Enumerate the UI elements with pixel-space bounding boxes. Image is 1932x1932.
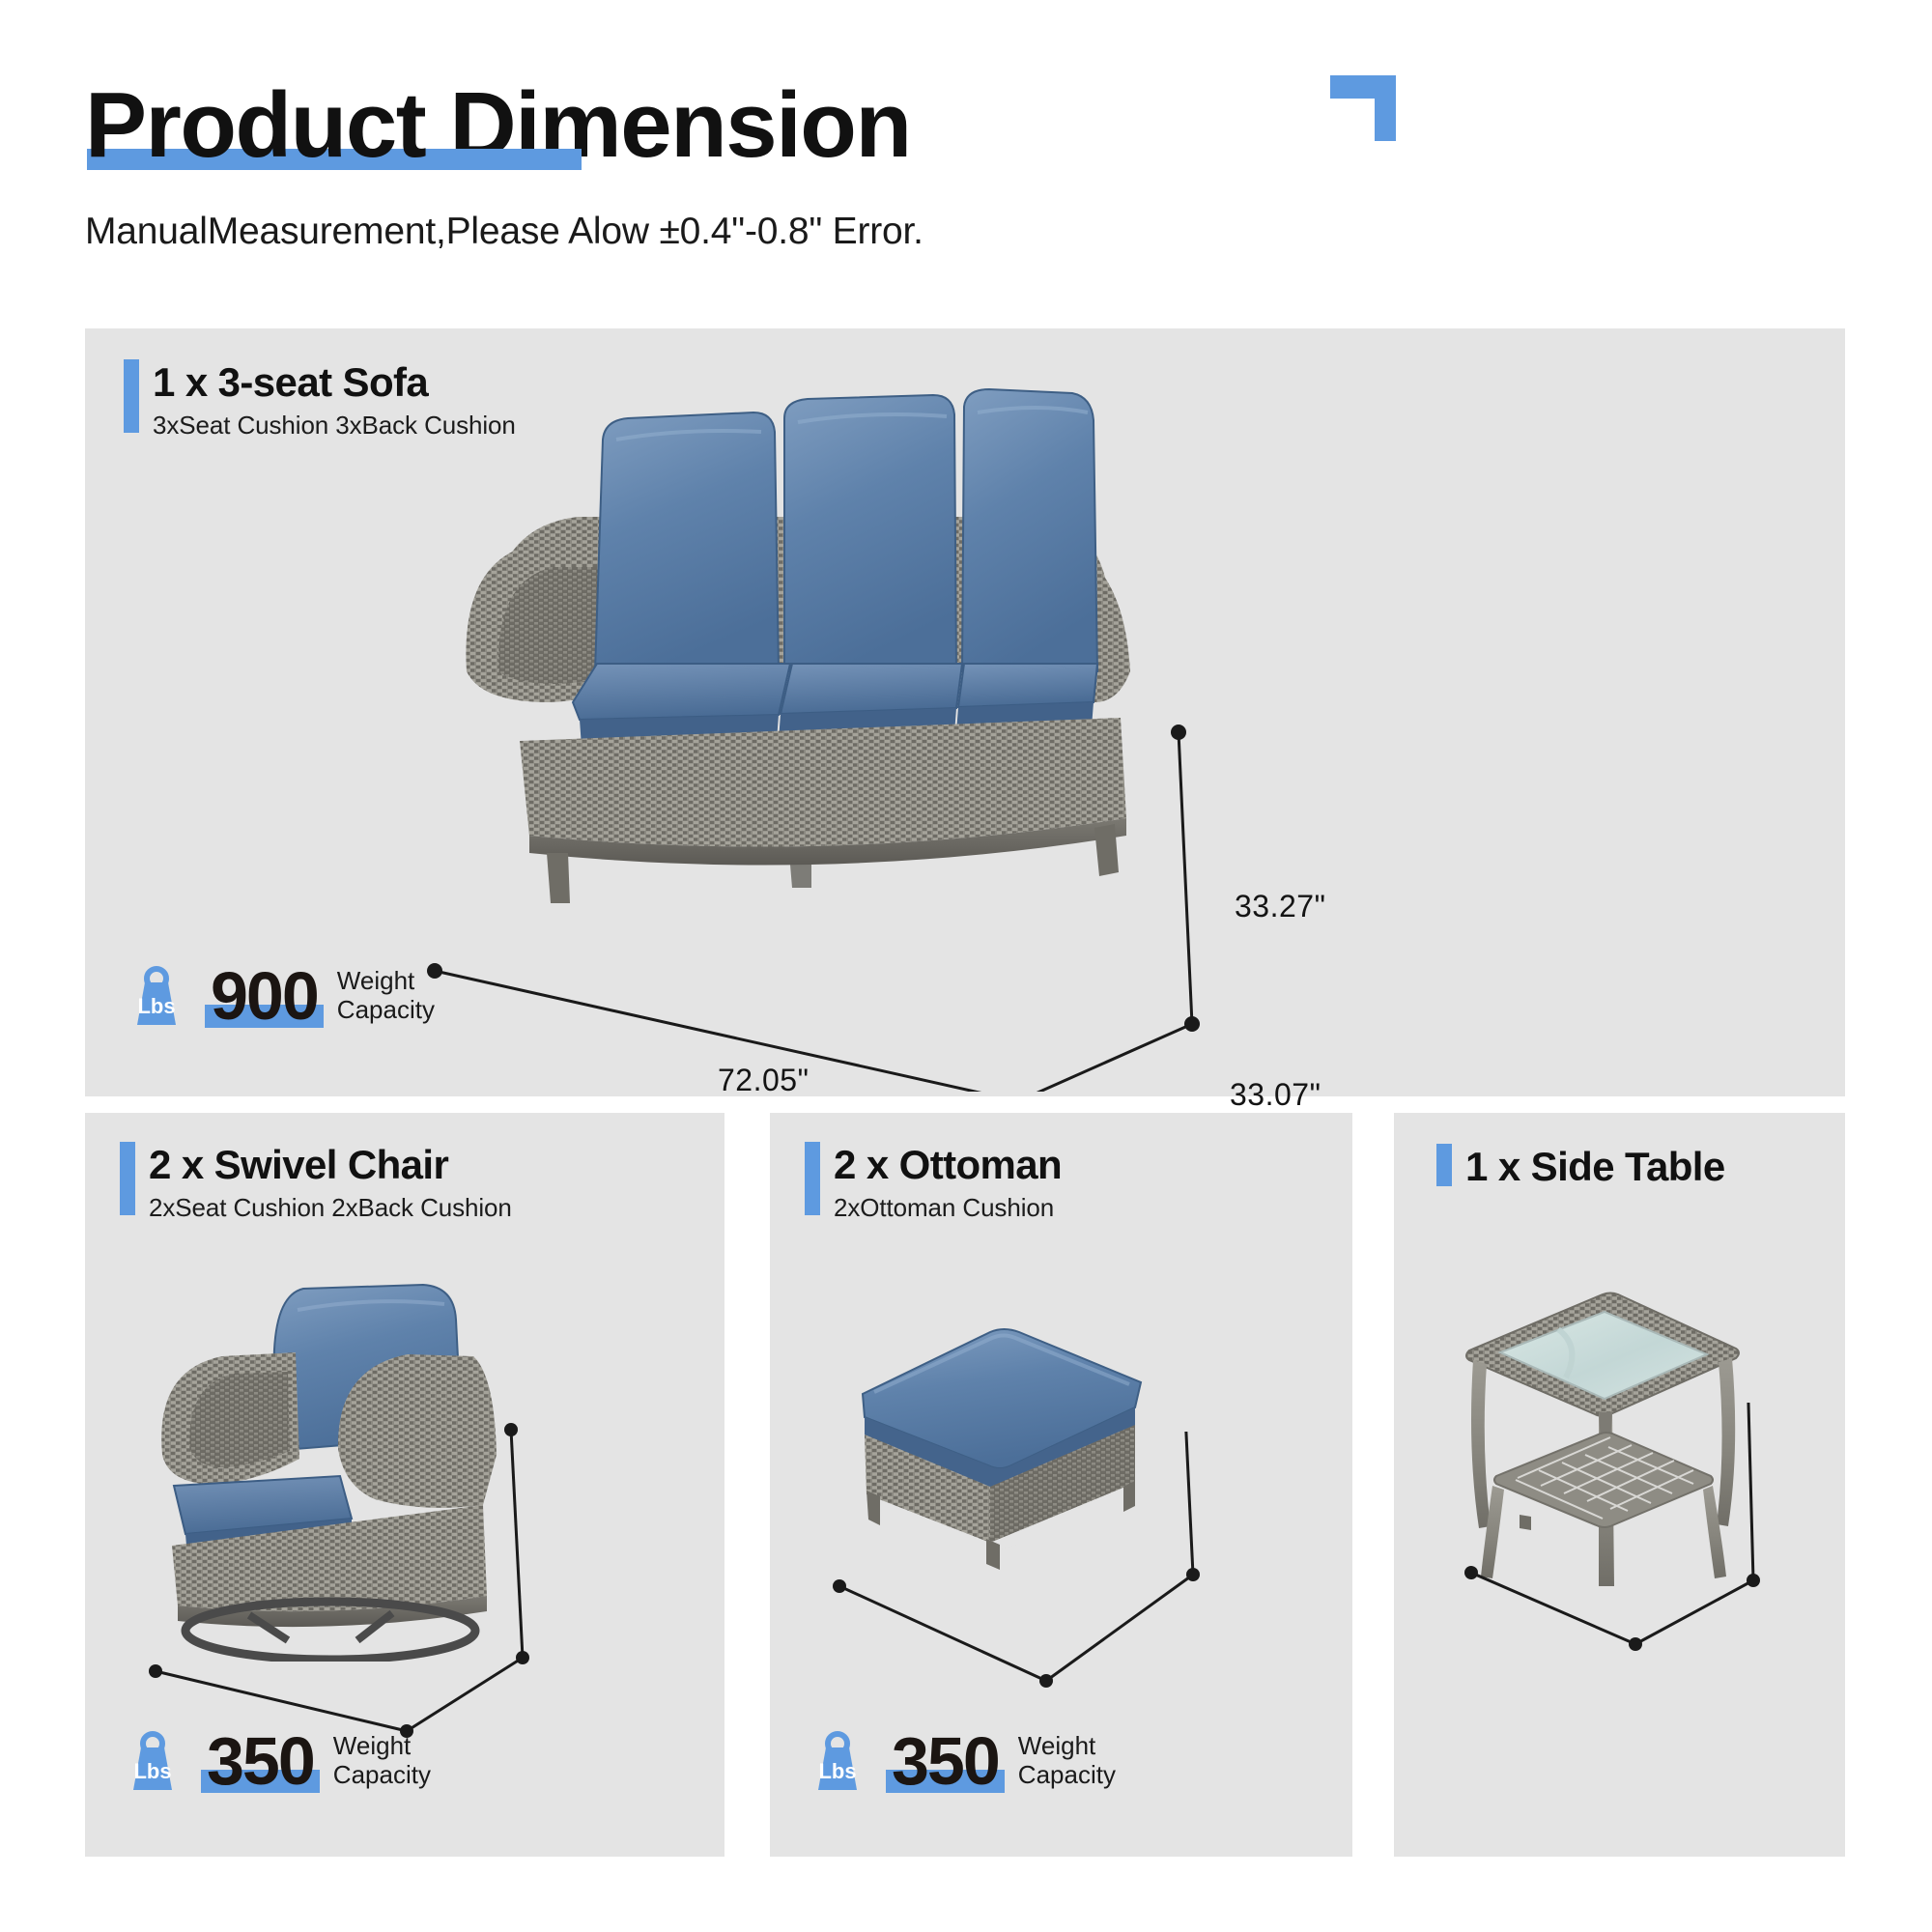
weight-caption-line2: Capacity: [337, 996, 435, 1025]
ottoman-dimension-lines: [799, 1432, 1321, 1750]
svg-text:Lbs: Lbs: [818, 1759, 856, 1783]
side-table-dimension-lines: [1417, 1403, 1842, 1721]
accent-bar-icon: [124, 359, 139, 433]
page-header: Product Dimension ManualMeasurement,Plea…: [85, 75, 1843, 253]
panel-side-table: 1 x Side Table: [1394, 1113, 1845, 1857]
sofa-dimension-lines: [394, 676, 1602, 1092]
accent-bar-icon: [120, 1142, 135, 1215]
sofa-weight-caption: Weight Capacity: [337, 967, 435, 1024]
ottoman-subtitle: 2xOttoman Cushion: [834, 1193, 1062, 1223]
accent-bar-icon: [1436, 1144, 1452, 1186]
chair-weight-value-wrap: 350: [201, 1727, 320, 1795]
ottoman-weight-caption: Weight Capacity: [1018, 1732, 1116, 1789]
ottoman-weight-value: 350: [892, 1723, 999, 1799]
sofa-depth-label: 33.07": [1230, 1077, 1321, 1113]
measurement-note: ManualMeasurement,Please Alow ±0.4"-0.8"…: [85, 211, 1843, 253]
ottoman-header: 2 x Ottoman 2xOttoman Cushion: [805, 1142, 1062, 1223]
chair-title: 2 x Swivel Chair: [149, 1142, 512, 1187]
ottoman-title: 2 x Ottoman: [834, 1142, 1062, 1187]
ottoman-weight-badge: Lbs 350 Weight Capacity: [803, 1726, 1116, 1796]
chair-dimension-lines: [138, 1412, 679, 1750]
weight-caption-line1: Weight: [337, 967, 435, 996]
accent-bar-icon: [805, 1142, 820, 1215]
weight-caption-line1: Weight: [333, 1732, 431, 1761]
product-dimension-infographic: Product Dimension ManualMeasurement,Plea…: [0, 0, 1932, 1932]
chair-weight-caption: Weight Capacity: [333, 1732, 431, 1789]
weight-lbs-icon: Lbs: [118, 1726, 187, 1796]
chair-weight-value: 350: [207, 1723, 314, 1799]
sofa-weight-badge: Lbs 900 Weight Capacity: [122, 961, 435, 1031]
weight-lbs-icon: Lbs: [122, 961, 191, 1031]
svg-text:Lbs: Lbs: [133, 1759, 171, 1783]
weight-caption-line2: Capacity: [1018, 1761, 1116, 1790]
title-word-product: Product: [85, 73, 425, 177]
panel-ottoman: 2 x Ottoman 2xOttoman Cushion: [770, 1113, 1352, 1857]
sofa-width-label: 72.05": [718, 1063, 809, 1098]
weight-caption-line1: Weight: [1018, 1732, 1116, 1761]
ottoman-weight-value-wrap: 350: [886, 1727, 1005, 1795]
panel-swivel-chair: 2 x Swivel Chair 2xSeat Cushion 2xBack C…: [85, 1113, 724, 1857]
page-title: Product Dimension: [85, 75, 911, 176]
corner-bracket-icon: [1330, 75, 1396, 141]
panel-sofa: 1 x 3-seat Sofa 3xSeat Cushion 3xBack Cu…: [85, 328, 1845, 1096]
chair-header: 2 x Swivel Chair 2xSeat Cushion 2xBack C…: [120, 1142, 512, 1223]
chair-subtitle: 2xSeat Cushion 2xBack Cushion: [149, 1193, 512, 1223]
chair-weight-badge: Lbs 350 Weight Capacity: [118, 1726, 431, 1796]
sofa-weight-value: 900: [211, 958, 318, 1034]
sofa-height-label: 33.27": [1235, 889, 1325, 924]
sofa-weight-value-wrap: 900: [205, 962, 324, 1030]
side-table-header: 1 x Side Table: [1436, 1144, 1725, 1189]
svg-text:Lbs: Lbs: [137, 994, 175, 1018]
weight-lbs-icon: Lbs: [803, 1726, 872, 1796]
side-table-title: 1 x Side Table: [1465, 1144, 1725, 1189]
weight-caption-line2: Capacity: [333, 1761, 431, 1790]
